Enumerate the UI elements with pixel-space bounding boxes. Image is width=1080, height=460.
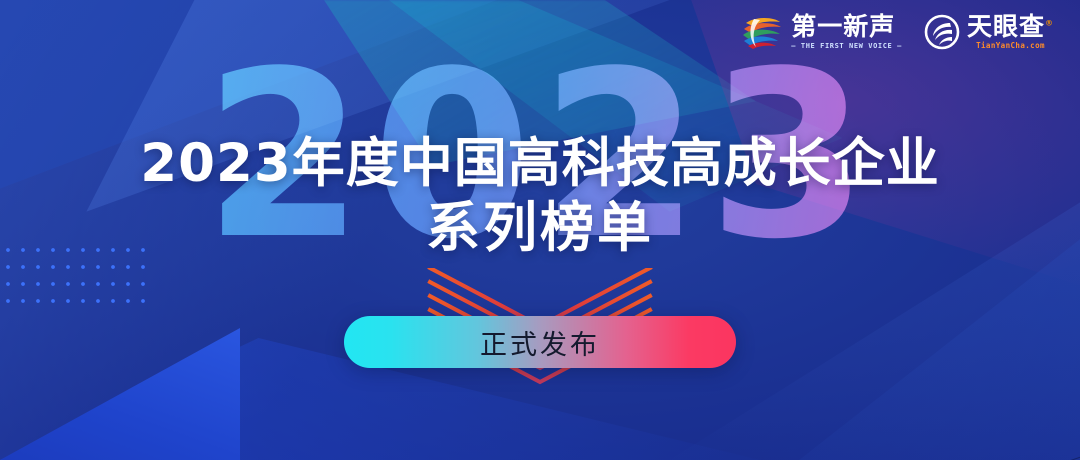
eye-lens-logo-icon xyxy=(924,14,960,50)
logo-tianyancha-cn-text: 天眼查 xyxy=(967,12,1045,41)
logo-tianyancha-cn: 天眼查® xyxy=(967,14,1054,40)
poster-root: 2023 2023年度中国高科技高成长企业 xyxy=(0,0,1080,460)
page-title-line-2: 系列榜单 xyxy=(0,196,1080,260)
logo-bar: 第一新声 — THE FIRST NEW VOICE — 天眼查® TianYa… xyxy=(740,14,1054,50)
logo-diyixinsheng[interactable]: 第一新声 — THE FIRST NEW VOICE — xyxy=(740,14,902,50)
release-status-pill[interactable]: 正式发布 xyxy=(344,316,736,368)
title-block: 2023年度中国高科技高成长企业 系列榜单 xyxy=(0,132,1080,260)
page-title-line-1: 2023年度中国高科技高成长企业 xyxy=(0,132,1080,196)
swirl-logo-icon xyxy=(740,14,784,50)
logo-tianyancha-text: 天眼查® TianYanCha.com xyxy=(967,14,1054,50)
logo-tianyancha-en: TianYanCha.com xyxy=(967,41,1054,50)
logo-diyixinsheng-text: 第一新声 — THE FIRST NEW VOICE — xyxy=(791,14,902,50)
logo-tianyancha[interactable]: 天眼查® TianYanCha.com xyxy=(924,14,1054,50)
registered-mark-icon: ® xyxy=(1045,19,1054,28)
logo-diyixinsheng-en: — THE FIRST NEW VOICE — xyxy=(791,42,902,50)
release-status-label: 正式发布 xyxy=(480,323,600,362)
logo-diyixinsheng-cn: 第一新声 xyxy=(791,14,902,40)
